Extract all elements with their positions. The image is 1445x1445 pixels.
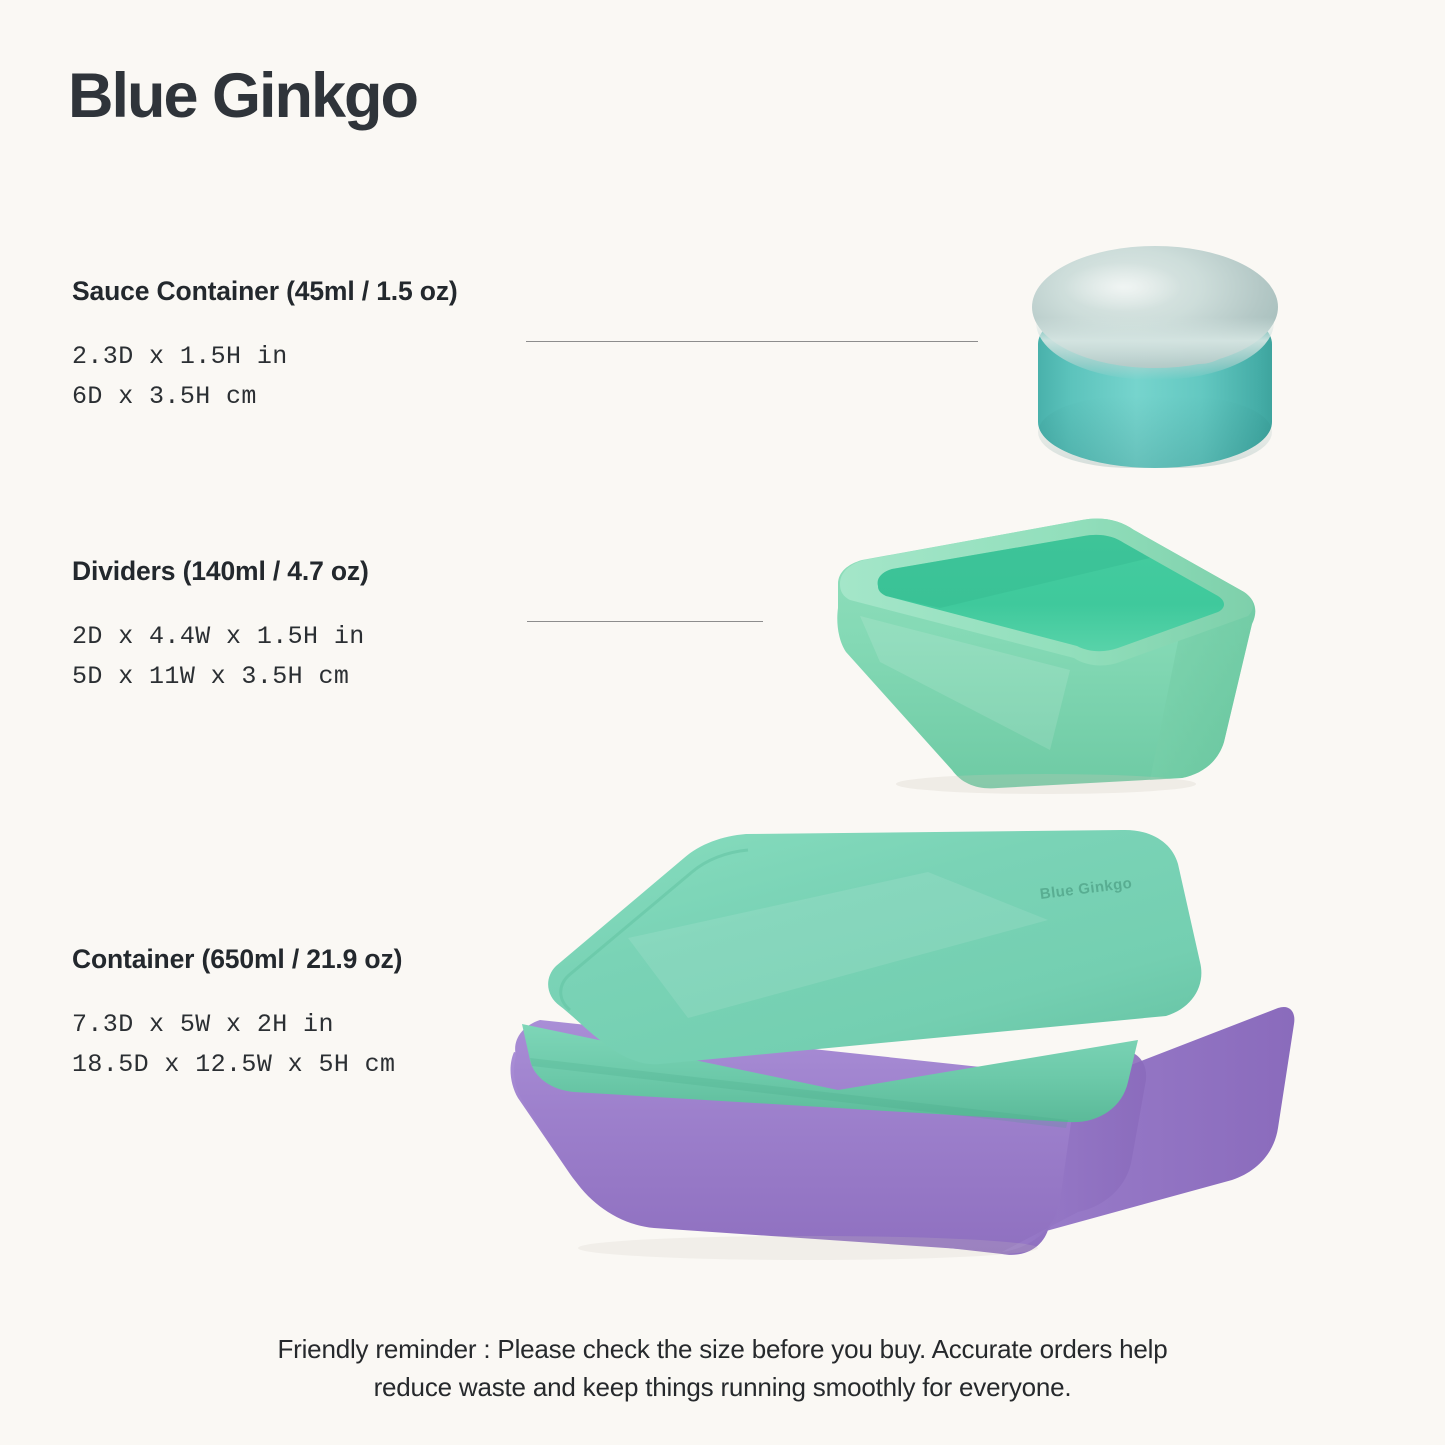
spec-block-sauce-container: Sauce Container (45ml / 1.5 oz) 2.3D x 1… [72,276,458,417]
bento-container-illustration [508,828,1298,1280]
spec-dimension-inches-dividers: 2D x 4.4W x 1.5H in [72,617,369,657]
product-image-container [508,828,1298,1280]
spec-title-dividers: Dividers (140ml / 4.7 oz) [72,556,369,587]
sauce-container-highlight [1062,262,1182,312]
footer-note-line-2: reduce waste and keep things running smo… [0,1368,1445,1406]
sauce-container-body-shadow [1038,396,1272,468]
spec-block-dividers: Dividers (140ml / 4.7 oz) 2D x 4.4W x 1.… [72,556,369,697]
spec-dimension-cm-container: 18.5D x 12.5W x 5H cm [72,1045,402,1085]
size-guide-page: Blue Ginkgo Sauce Container (45ml / 1.5 … [0,0,1445,1445]
leader-line-dividers [527,621,763,622]
footer-note-line-1: Friendly reminder : Please check the siz… [0,1330,1445,1368]
container-drop-shadow [578,1236,1038,1260]
spec-dimension-cm-dividers: 5D x 11W x 3.5H cm [72,657,369,697]
spec-dimension-inches-container: 7.3D x 5W x 2H in [72,1005,402,1045]
product-image-sauce-container [1032,246,1280,484]
divider-drop-shadow [896,774,1196,794]
brand-logo: Blue Ginkgo [68,60,417,132]
product-image-dividers [820,512,1260,794]
spec-title-sauce-container: Sauce Container (45ml / 1.5 oz) [72,276,458,307]
divider-tray-illustration [820,512,1260,794]
spec-dimension-cm-sauce-container: 6D x 3.5H cm [72,377,458,417]
spec-block-container: Container (650ml / 21.9 oz) 7.3D x 5W x … [72,944,402,1085]
spec-title-container: Container (650ml / 21.9 oz) [72,944,402,975]
footer-note: Friendly reminder : Please check the siz… [0,1330,1445,1406]
spec-dimension-inches-sauce-container: 2.3D x 1.5H in [72,337,458,377]
leader-line-sauce-container [526,341,978,342]
